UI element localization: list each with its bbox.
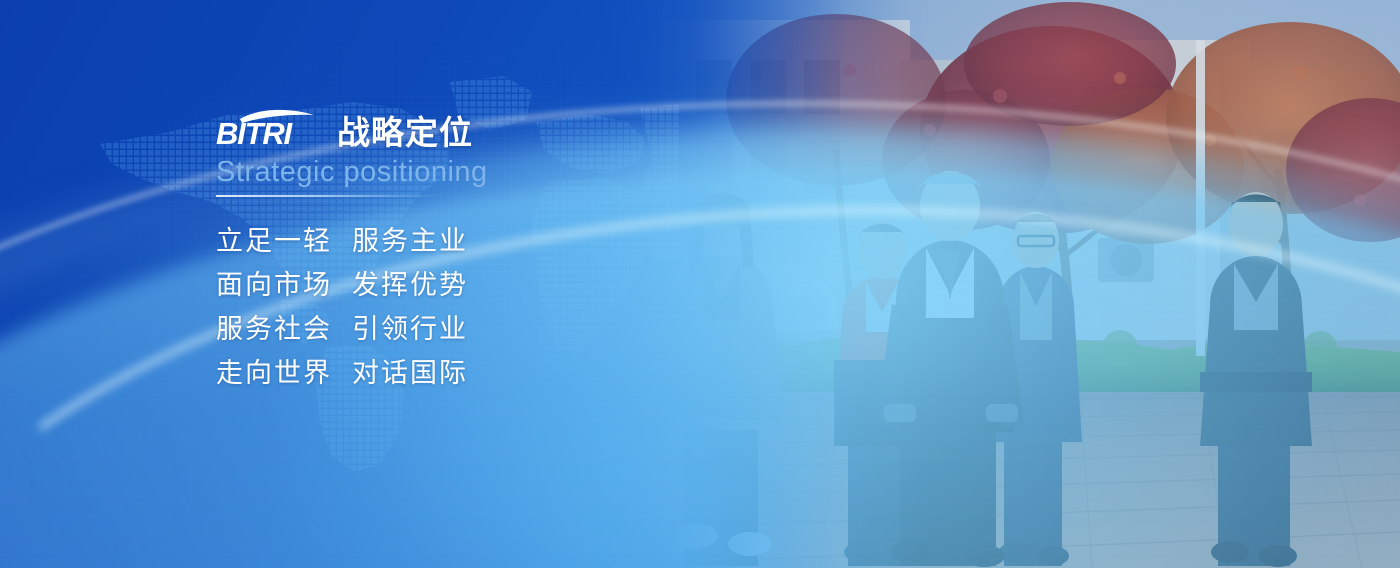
- title-divider: [216, 195, 444, 197]
- banner-subtitle-en: Strategic positioning: [216, 155, 636, 189]
- slogan-list: 立足一轻服务主业 面向市场发挥优势 服务社会引领行业 走向世界对话国际: [216, 219, 636, 395]
- svg-text:BITRI: BITRI: [216, 116, 294, 150]
- slogan-line: 走向世界对话国际: [216, 351, 636, 395]
- slogan-left: 服务社会: [216, 307, 332, 351]
- slogan-right: 引领行业: [352, 307, 468, 351]
- slogan-line: 立足一轻服务主业: [216, 219, 636, 263]
- slogan-left: 走向世界: [216, 351, 332, 395]
- banner-title-cn: 战略定位: [337, 116, 473, 150]
- slogan-line: 面向市场发挥优势: [216, 263, 636, 307]
- slogan-right: 发挥优势: [352, 263, 468, 307]
- slogan-right: 对话国际: [352, 351, 468, 395]
- title-row: BITRI 战略定位: [216, 104, 636, 150]
- slogan-left: 立足一轻: [216, 219, 332, 263]
- strategic-positioning-banner: BITRI 战略定位 Strategic positioning 立足一轻服务主…: [0, 0, 1400, 568]
- slogan-right: 服务主业: [352, 219, 468, 263]
- banner-content: BITRI 战略定位 Strategic positioning 立足一轻服务主…: [216, 104, 636, 395]
- bitri-logo: BITRI: [216, 104, 324, 150]
- slogan-left: 面向市场: [216, 263, 332, 307]
- slogan-line: 服务社会引领行业: [216, 307, 636, 351]
